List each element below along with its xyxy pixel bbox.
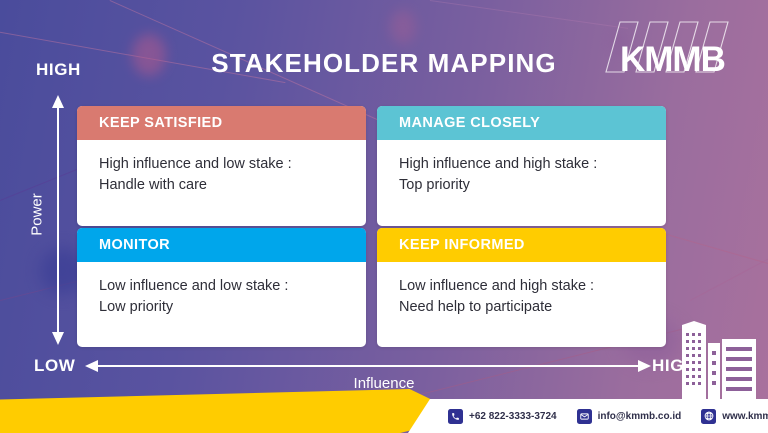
decorative-line xyxy=(690,248,768,301)
contact-email-text: info@kmmb.co.id xyxy=(598,411,682,422)
x-axis-low-label: LOW xyxy=(34,356,75,376)
x-axis-arrow-icon xyxy=(85,358,651,374)
quadrant-heading-manage-closely: MANAGE CLOSELY xyxy=(377,106,666,140)
quadrant-card-manage-closely[interactable]: MANAGE CLOSELY High influence and high s… xyxy=(377,106,666,226)
y-axis-arrow-icon xyxy=(50,95,66,345)
buildings-icon xyxy=(674,321,760,399)
contact-bar: +62 822-3333-3724 info@kmmb.co.id www.km… xyxy=(408,399,768,433)
quadrant-text-line-2: Need help to participate xyxy=(399,297,648,318)
kmmb-logo: KMMB xyxy=(594,16,754,88)
contact-website-text: www.kmmb.co.id xyxy=(722,411,768,422)
quadrant-text-line-2: Handle with care xyxy=(99,175,348,196)
envelope-icon xyxy=(577,409,592,424)
contact-email[interactable]: info@kmmb.co.id xyxy=(577,409,682,424)
decorative-blob xyxy=(390,10,416,44)
contact-phone[interactable]: +62 822-3333-3724 xyxy=(448,409,557,424)
quadrant-heading-monitor: MONITOR xyxy=(77,228,366,262)
quadrant-text-line-1: Low influence and high stake : xyxy=(399,276,648,297)
quadrant-body-monitor: Low influence and low stake : Low priori… xyxy=(77,262,366,317)
quadrant-text-line-2: Top priority xyxy=(399,175,648,196)
quadrant-text-line-1: Low influence and low stake : xyxy=(99,276,348,297)
quadrant-heading-keep-informed: KEEP INFORMED xyxy=(377,228,666,262)
quadrant-body-keep-satisfied: High influence and low stake : Handle wi… xyxy=(77,140,366,195)
decorative-line xyxy=(660,232,768,269)
quadrant-text-line-1: High influence and low stake : xyxy=(99,154,348,175)
quadrant-text-line-2: Low priority xyxy=(99,297,348,318)
quadrant-body-keep-informed: Low influence and high stake : Need help… xyxy=(377,262,666,317)
phone-icon xyxy=(448,409,463,424)
logo-wordmark: KMMB xyxy=(620,42,725,77)
quadrant-text-line-1: High influence and high stake : xyxy=(399,154,648,175)
y-axis-title: Power xyxy=(29,175,46,255)
contact-website[interactable]: www.kmmb.co.id xyxy=(701,409,768,424)
y-axis-high-label: HIGH xyxy=(36,60,81,80)
x-axis-title: Influence xyxy=(0,375,768,392)
quadrant-body-manage-closely: High influence and high stake : Top prio… xyxy=(377,140,666,195)
quadrant-card-keep-informed[interactable]: KEEP INFORMED Low influence and high sta… xyxy=(377,228,666,347)
quadrant-card-monitor[interactable]: MONITOR Low influence and low stake : Lo… xyxy=(77,228,366,347)
stakeholder-mapping-infographic: STAKEHOLDER MAPPING KMMB HIGH LOW HIGH P… xyxy=(0,0,768,433)
contact-phone-text: +62 822-3333-3724 xyxy=(469,411,557,422)
quadrant-heading-keep-satisfied: KEEP SATISFIED xyxy=(77,106,366,140)
footer-yellow-band xyxy=(0,389,466,433)
globe-icon xyxy=(701,409,716,424)
quadrant-card-keep-satisfied[interactable]: KEEP SATISFIED High influence and low st… xyxy=(77,106,366,226)
